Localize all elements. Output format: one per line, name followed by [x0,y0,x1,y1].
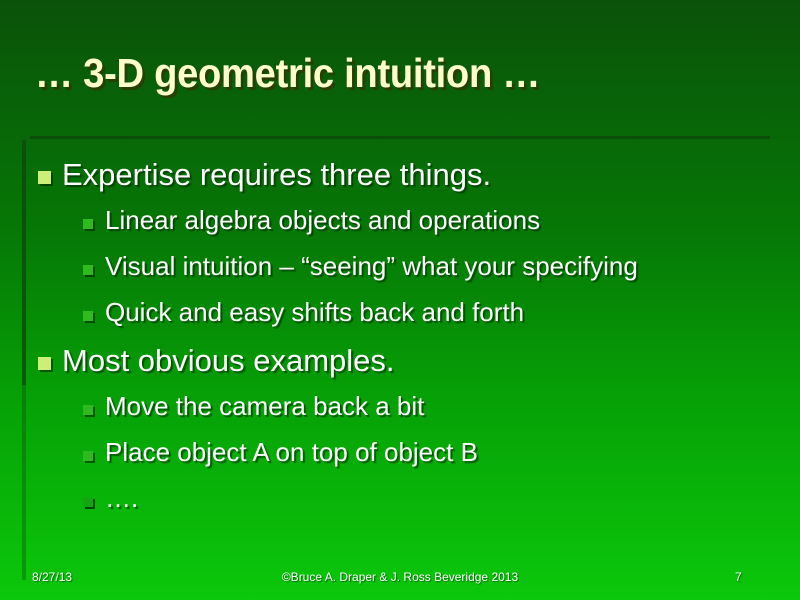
bullet-item: Most obvious examples. [0,344,800,392]
slide-title: … 3-D geometric intuition … [35,52,714,95]
bullet-text: Linear algebra objects and operations [105,206,540,235]
bullet-marker-icon [83,451,93,461]
bullet-marker-icon [38,171,51,184]
bullet-text: Move the camera back a bit [105,392,424,421]
slide-body: Expertise requires three things. Linear … [0,158,800,530]
presentation-slide: … 3-D geometric intuition … Expertise re… [0,0,800,600]
bullet-item: Visual intuition – “seeing” what your sp… [0,252,800,298]
bullet-marker-icon [83,497,93,507]
bullet-item: Move the camera back a bit [0,392,800,438]
bullet-text: Expertise requires three things. [62,158,491,191]
bullet-marker-icon [83,405,93,415]
bullet-text: Most obvious examples. [62,344,395,377]
bullet-text: Visual intuition – “seeing” what your sp… [105,252,638,281]
bullet-marker-icon [83,311,93,321]
bullet-text: Place object A on top of object B [105,438,478,467]
bullet-item: …. [0,484,800,530]
bullet-marker-icon [38,357,51,370]
footer-copyright: ©Bruce A. Draper & J. Ross Beveridge 201… [0,570,800,584]
slide-footer: 8/27/13 ©Bruce A. Draper & J. Ross Bever… [0,568,800,590]
bullet-item: Expertise requires three things. [0,158,800,206]
bullet-item: Place object A on top of object B [0,438,800,484]
footer-page-number: 7 [735,570,742,584]
bullet-item: Quick and easy shifts back and forth [0,298,800,344]
title-divider [30,136,770,139]
bullet-text: …. [105,484,138,513]
bullet-item: Linear algebra objects and operations [0,206,800,252]
bullet-text: Quick and easy shifts back and forth [105,298,524,327]
bullet-marker-icon [83,265,93,275]
bullet-marker-icon [83,219,93,229]
